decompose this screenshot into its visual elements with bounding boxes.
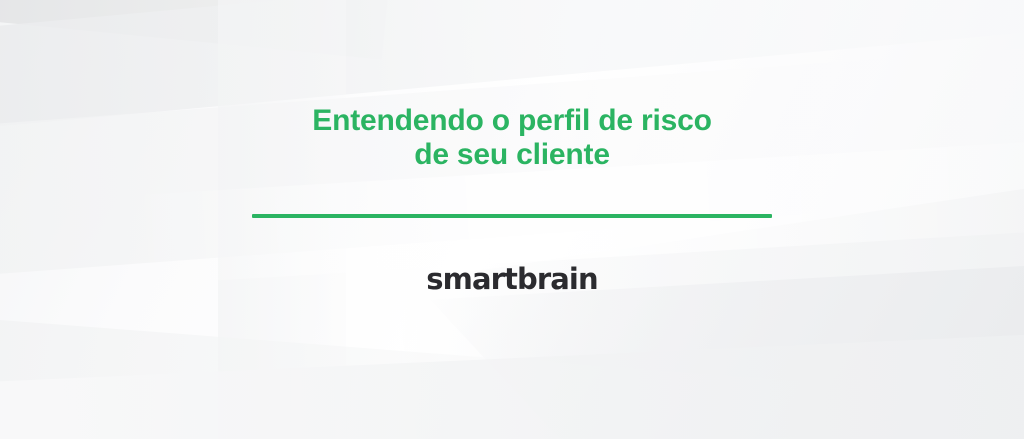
presentation-slide: Entendendo o perfil de risco de seu clie… bbox=[0, 0, 1024, 439]
slide-content: Entendendo o perfil de risco de seu clie… bbox=[0, 0, 1024, 439]
slide-title: Entendendo o perfil de risco de seu clie… bbox=[0, 104, 1024, 172]
brand-logo: smartbrain bbox=[0, 262, 1024, 296]
title-divider-wrapper bbox=[0, 214, 1024, 218]
title-divider bbox=[252, 214, 772, 218]
